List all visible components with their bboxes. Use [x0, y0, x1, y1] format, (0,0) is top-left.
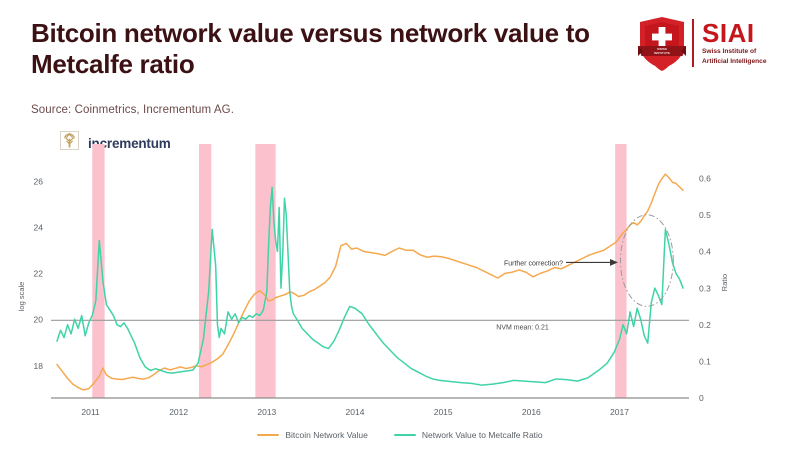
highlight-ellipse	[620, 215, 673, 307]
y2-axis-tick-5: 0.5	[699, 210, 711, 220]
source-note: Source: Coinmetrics, Incrementum AG.	[31, 104, 234, 116]
highlight-band-0	[92, 144, 104, 398]
x-axis-tick-2017: 2017	[610, 407, 629, 417]
y-axis-tick-26: 26	[34, 176, 44, 186]
siai-sub-line1: Swiss Institute of	[702, 48, 767, 56]
siai-brand: SIAI	[702, 20, 767, 46]
series-line-nvm-ratio	[57, 187, 683, 385]
siai-logo: SWISS INSTITUTE SIAI Swiss Institute of …	[636, 12, 786, 74]
y2-axis-tick-0: 0	[699, 393, 704, 403]
logo-divider	[692, 19, 694, 67]
series-line-bitcoin-network-value	[57, 174, 683, 390]
page-title: Bitcoin network value versus network val…	[31, 18, 591, 80]
x-axis-tick-2011: 2011	[81, 407, 100, 417]
annotation-further-correction: Further correction?	[504, 260, 563, 267]
y-axis-tick-20: 20	[34, 315, 44, 325]
legend-swatch-bitcoin	[257, 434, 279, 437]
siai-logo-text: SIAI Swiss Institute of Artificial Intel…	[702, 20, 767, 67]
y2-axis-tick-6: 0.6	[699, 173, 711, 183]
siai-sub-line2: Artificial Intelligence	[702, 58, 767, 66]
y2-axis-label: Ratio	[720, 274, 729, 292]
legend-item-nvm-ratio: Network Value to Metcalfe Ratio	[394, 430, 543, 440]
slide-root: Bitcoin network value versus network val…	[0, 0, 800, 450]
x-axis-tick-2015: 2015	[434, 407, 453, 417]
y2-axis-tick-4: 0.4	[699, 247, 711, 257]
swiss-shield-icon: SWISS INSTITUTE	[636, 15, 688, 71]
legend-label-nvm: Network Value to Metcalfe Ratio	[422, 430, 543, 440]
y2-axis-tick-2: 0.2	[699, 320, 711, 330]
legend-swatch-nvm	[394, 434, 416, 437]
legend-item-bitcoin-network-value: Bitcoin Network Value	[257, 430, 368, 440]
chart-legend: Bitcoin Network Value Network Value to M…	[0, 430, 800, 440]
x-axis-tick-2013: 2013	[257, 407, 276, 417]
y-axis-tick-22: 22	[34, 269, 44, 279]
y-axis-tick-18: 18	[34, 361, 44, 371]
y2-axis-tick-3: 0.3	[699, 283, 711, 293]
x-axis-tick-2016: 2016	[522, 407, 541, 417]
y-axis-label: log scale	[17, 282, 26, 312]
svg-text:INSTITUTE: INSTITUTE	[654, 51, 670, 55]
chart-canvas: NVM mean: 0.211820222426log scale00.10.2…	[0, 140, 800, 450]
nvm-mean-label: NVM mean: 0.21	[496, 324, 549, 331]
y2-axis-tick-1: 0.1	[699, 357, 711, 367]
x-axis-tick-2014: 2014	[346, 407, 365, 417]
highlight-band-2	[255, 144, 275, 398]
y-axis-tick-24: 24	[34, 222, 44, 232]
x-axis-tick-2012: 2012	[169, 407, 188, 417]
legend-label-bitcoin: Bitcoin Network Value	[285, 430, 368, 440]
